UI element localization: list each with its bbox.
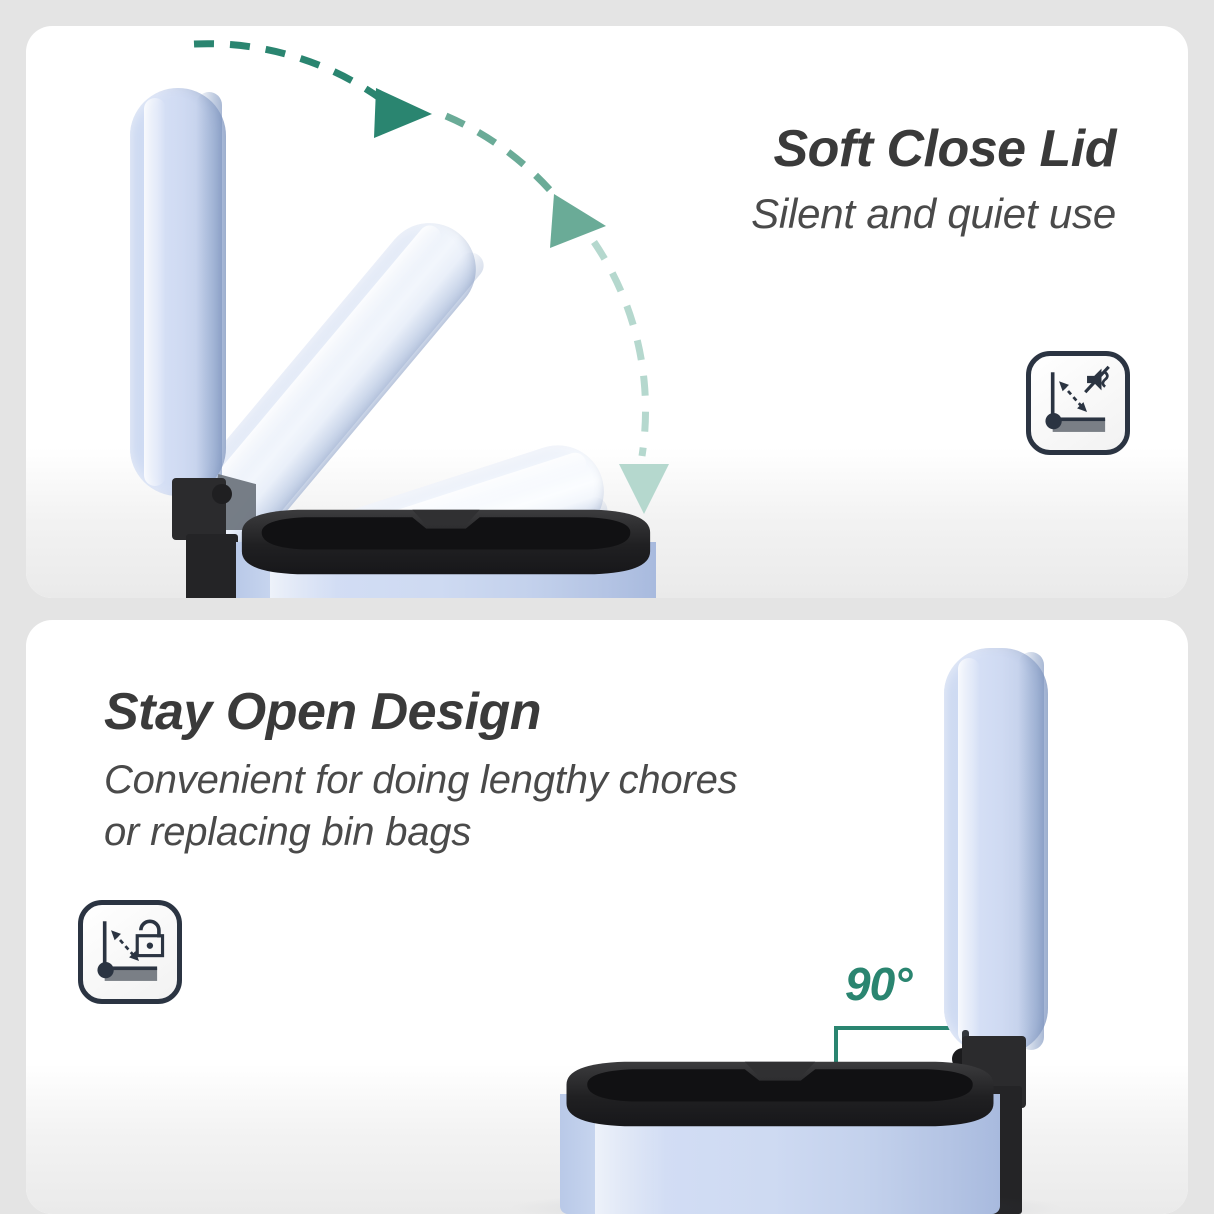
subtitle-soft-close: Silent and quiet use bbox=[751, 186, 1116, 242]
soft-close-text-block: Soft Close Lid Silent and quiet use bbox=[751, 118, 1116, 242]
arc-dash-1 bbox=[194, 44, 388, 104]
hinge-pin bbox=[212, 484, 232, 504]
lid-upright bbox=[130, 88, 226, 496]
stay-open-text-block: Stay Open Design Convenient for doing le… bbox=[104, 680, 737, 858]
bin-body-bottom bbox=[560, 1056, 1000, 1214]
soft-close-mute-icon bbox=[1026, 351, 1130, 455]
panel-soft-close: Soft Close Lid Silent and quiet use bbox=[26, 26, 1188, 598]
page-title-stay-open: Stay Open Design bbox=[104, 680, 737, 744]
padlock-icon bbox=[137, 921, 162, 955]
muted-speaker-icon bbox=[1085, 367, 1109, 392]
arc-arrow-1-icon bbox=[374, 88, 432, 138]
panel-stay-open: Stay Open Design Convenient for doing le… bbox=[26, 620, 1188, 1214]
lid-edge-cap bbox=[196, 92, 222, 492]
page-title-soft-close: Soft Close Lid bbox=[751, 118, 1116, 180]
arc-arrow-2-icon bbox=[550, 194, 606, 248]
lid-edge-cap bbox=[1018, 652, 1044, 1050]
arc-dash-2 bbox=[446, 116, 568, 212]
arc-dash-3 bbox=[594, 242, 646, 456]
bin-rim bbox=[552, 1056, 1008, 1130]
bin-body-top bbox=[236, 504, 656, 598]
subtitle-stay-open: Convenient for doing lengthy chores or r… bbox=[104, 754, 737, 858]
stay-open-lock-icon bbox=[78, 900, 182, 1004]
infographic-stage: Soft Close Lid Silent and quiet use bbox=[0, 0, 1214, 1214]
bin-rim bbox=[228, 504, 664, 578]
lid-stay-open bbox=[944, 648, 1048, 1054]
lid-sheen bbox=[958, 658, 980, 1044]
lid-sheen bbox=[144, 98, 166, 486]
